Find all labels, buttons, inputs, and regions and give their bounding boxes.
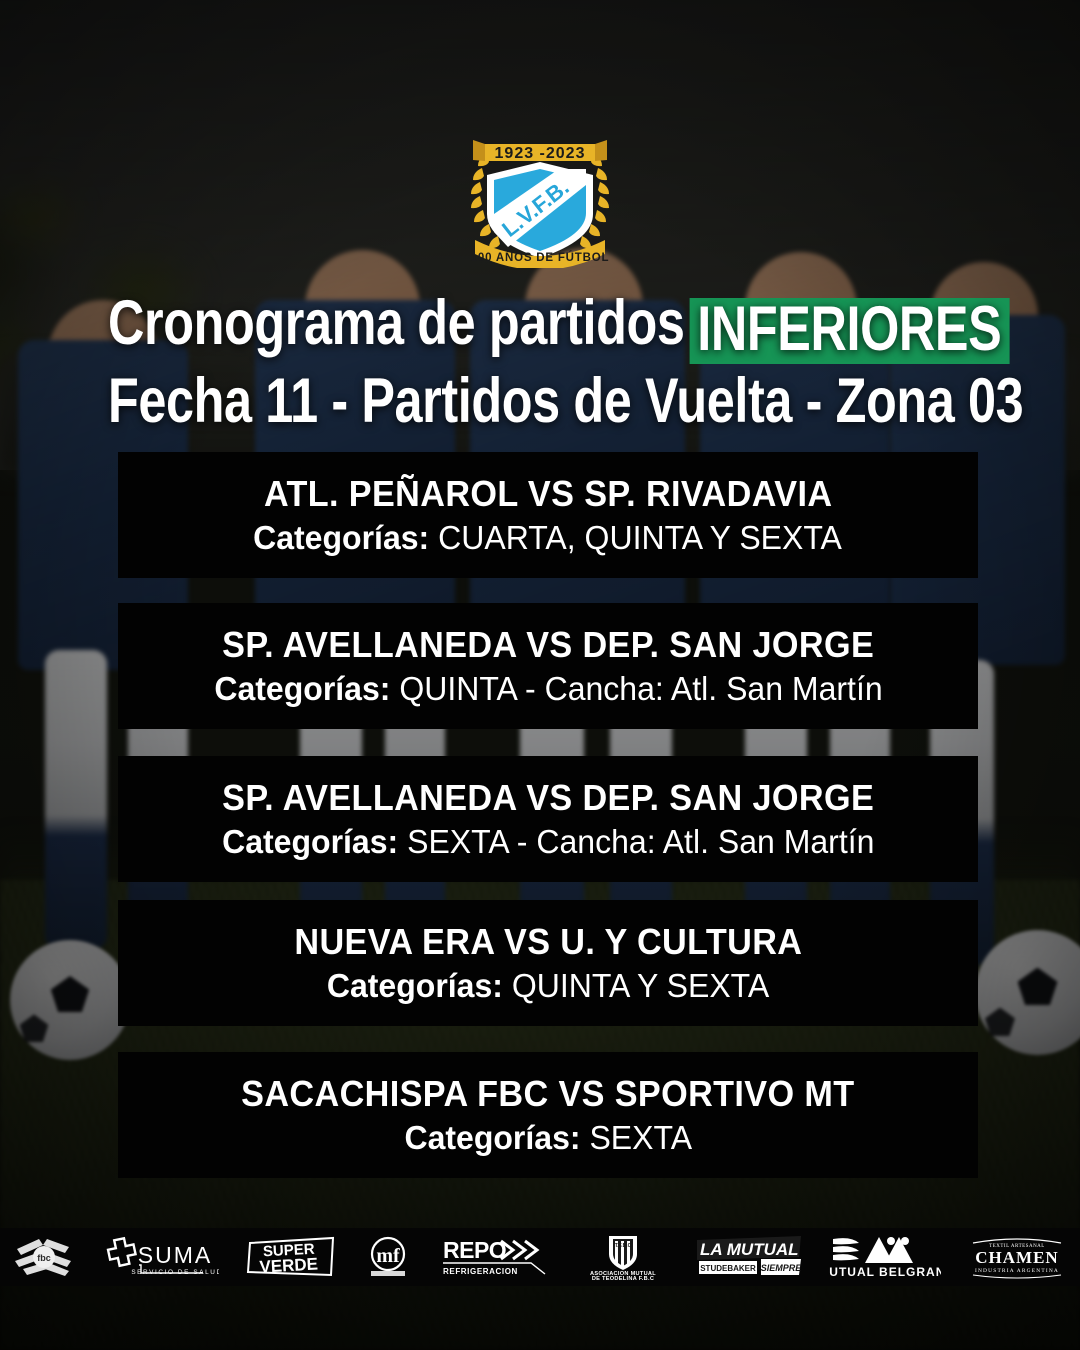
match-categories-label: Categorías: xyxy=(327,967,503,1004)
match-title: SP. AVELLANEDA VS DEP. SAN JORGE xyxy=(222,777,874,819)
sponsor-sublabel: INDUSTRIA ARGENTINA xyxy=(975,1268,1059,1274)
match-categories: Categorías: CUARTA, QUINTA Y SEXTA xyxy=(254,518,843,558)
inferiores-highlight-badge: INFERIORES xyxy=(689,298,1009,364)
match-title: SACACHISPA FBC VS SPORTIVO MT xyxy=(241,1073,854,1115)
sponsor-label: fbc xyxy=(37,1253,51,1263)
match-categories: Categorías: SEXTA - Cancha: Atl. San Mar… xyxy=(222,822,874,862)
sponsor-sublabel: REFRIGERACION xyxy=(443,1267,518,1276)
match-categories-label: Categorías: xyxy=(404,1119,580,1156)
svg-text:STUDEBAKER: STUDEBAKER xyxy=(700,1264,756,1273)
fbc-brush-icon: fbc xyxy=(13,1235,77,1279)
match-categories-value: QUINTA Y SEXTA xyxy=(512,967,769,1004)
repo-refrigeracion-icon: REPO REFRIGERACION xyxy=(439,1235,551,1279)
match-categories: Categorías: SEXTA xyxy=(404,1118,692,1158)
match-card[interactable]: SACACHISPA FBC VS SPORTIVO MT Categorías… xyxy=(118,1052,978,1178)
sponsor-suma-logo[interactable]: SUMA SERVICIO DE SALUD xyxy=(103,1234,219,1280)
suma-icon: SUMA SERVICIO DE SALUD xyxy=(103,1235,219,1279)
sponsor-super-verde-logo[interactable]: SUPER VERDE xyxy=(245,1234,337,1280)
sponsor-mutual-belgrano-logo[interactable]: MUTUAL BELGRANO xyxy=(829,1234,941,1280)
sponsor-label: mf xyxy=(376,1245,400,1267)
poster-root: L.V.F.B. 1923 -2023 100 AÑOS DE FÚTBOL C… xyxy=(0,0,1080,1350)
page-title-text: Cronograma de partidos xyxy=(108,288,684,358)
sponsor-fbc-brush-logo[interactable]: fbc xyxy=(13,1234,77,1280)
sponsor-label: SUMA xyxy=(138,1242,212,1268)
sponsor-chamen-logo[interactable]: TEXTIL ARTESANAL CHAMEN INDUSTRIA ARGENT… xyxy=(967,1234,1067,1280)
sponsor-label: MUTUAL BELGRANO xyxy=(829,1265,941,1279)
year-banner-tail-left xyxy=(473,140,485,161)
match-title: NUEVA ERA VS U. Y CULTURA xyxy=(294,921,802,963)
match-categories-value: CUARTA, QUINTA Y SEXTA xyxy=(439,519,843,556)
match-categories-label: Categorías: xyxy=(214,670,390,707)
sponsor-teodelina-logo[interactable]: T.F.B.C ASOCIACION MUTUAL DE TEODELINA F… xyxy=(577,1234,669,1280)
crest-years: 1923 -2023 xyxy=(495,145,586,162)
sponsor-la-mutual-logo[interactable]: LA MUTUAL STUDEBAKER SIEMPRE xyxy=(695,1234,803,1280)
svg-text:T.F.B.C: T.F.B.C xyxy=(615,1243,632,1249)
svg-text:SIEMPRE: SIEMPRE xyxy=(761,1263,803,1273)
match-categories-value: QUINTA - Cancha: Atl. San Martín xyxy=(399,670,882,707)
sponsor-bar: fbc SUMA SERVICIO DE SALUD SUPER VERDE xyxy=(0,1228,1080,1286)
header-block: Cronograma de partidosINFERIORES Fecha 1… xyxy=(0,288,1080,436)
sponsor-label: LA MUTUAL xyxy=(700,1240,799,1259)
match-categories-value: SEXTA - Cancha: Atl. San Martín xyxy=(407,823,874,860)
poster-content: L.V.F.B. 1923 -2023 100 AÑOS DE FÚTBOL C… xyxy=(0,0,1080,1350)
match-card[interactable]: SP. AVELLANEDA VS DEP. SAN JORGE Categor… xyxy=(118,756,978,882)
match-categories: Categorías: QUINTA Y SEXTA xyxy=(327,966,769,1006)
sponsor-label: REPO xyxy=(443,1237,506,1263)
match-card[interactable]: ATL. PEÑAROL VS SP. RIVADAVIA Categorías… xyxy=(118,452,978,578)
asociacion-mutual-teodelina-icon: T.F.B.C ASOCIACION MUTUAL DE TEODELINA F… xyxy=(577,1234,669,1280)
mutual-belgrano-icon: MUTUAL BELGRANO xyxy=(829,1235,941,1279)
match-categories-value: SEXTA xyxy=(589,1119,692,1156)
page-title: Cronograma de partidosINFERIORES xyxy=(108,288,972,364)
match-categories-label: Categorías: xyxy=(254,519,430,556)
crest-icon: L.V.F.B. 1923 -2023 100 AÑOS DE FÚTBOL xyxy=(435,128,645,268)
sponsor-sublabel: VERDE xyxy=(259,1254,318,1276)
mf-circular-icon: mf xyxy=(363,1235,413,1279)
sponsor-mf-logo[interactable]: mf xyxy=(363,1234,413,1280)
match-title: SP. AVELLANEDA VS DEP. SAN JORGE xyxy=(222,624,874,666)
page-subtitle: Fecha 11 - Partidos de Vuelta - Zona 03 xyxy=(108,366,972,436)
chamen-icon: TEXTIL ARTESANAL CHAMEN INDUSTRIA ARGENT… xyxy=(967,1235,1067,1279)
sponsor-repo-logo[interactable]: REPO REFRIGERACION xyxy=(439,1234,551,1280)
super-verde-icon: SUPER VERDE xyxy=(245,1235,337,1279)
match-card[interactable]: SP. AVELLANEDA VS DEP. SAN JORGE Categor… xyxy=(118,603,978,729)
match-card[interactable]: NUEVA ERA VS U. Y CULTURA Categorías: QU… xyxy=(118,900,978,1026)
match-categories-label: Categorías: xyxy=(222,823,398,860)
sponsor-sublabel: DE TEODELINA F.B.C xyxy=(592,1276,654,1280)
lvfb-crest-logo: L.V.F.B. 1923 -2023 100 AÑOS DE FÚTBOL xyxy=(435,128,645,268)
match-title: ATL. PEÑAROL VS SP. RIVADAVIA xyxy=(264,473,832,515)
sponsor-label: CHAMEN xyxy=(975,1248,1058,1267)
crest-ribbon-text: 100 AÑOS DE FÚTBOL xyxy=(471,251,610,264)
la-mutual-studebaker-icon: LA MUTUAL STUDEBAKER SIEMPRE xyxy=(695,1235,803,1279)
match-categories: Categorías: QUINTA - Cancha: Atl. San Ma… xyxy=(214,669,882,709)
year-banner-tail-right xyxy=(595,140,607,161)
